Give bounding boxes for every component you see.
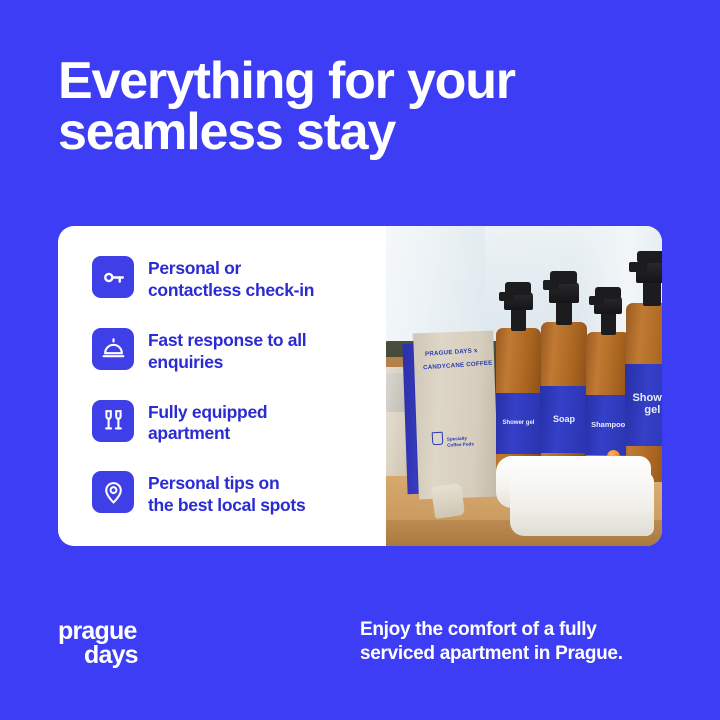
feature-line-1: Fully equipped [148,402,267,422]
service-bell-icon [92,328,134,370]
bottle-neck [556,301,572,325]
brand-logo[interactable]: prague days [58,620,138,668]
bottle-neck [601,312,616,335]
amenities-photo: PRAGUE DAYS x CANDYCANE COFFEE Specialty… [386,226,662,546]
feature-item-equipped-apartment: Fully equipped apartment [92,400,378,446]
bottle-neck [643,281,661,306]
coffee-bag-badge-line-1: Specialty [446,435,466,441]
feature-line-2: apartment [148,423,230,443]
feature-line-1: Personal tips on [148,473,279,493]
location-pin-icon [92,471,134,513]
feature-list: Personal or contactless check-in Fast re… [58,226,386,546]
feature-line-2: the best local spots [148,495,305,515]
feature-item-fast-response: Fast response to all enquiries [92,328,378,374]
logo-line-2: days [58,644,138,668]
photo-bottle-4: Shower gel [626,303,662,482]
bottle-label: Soap [540,386,589,453]
footer-tagline: Enjoy the comfort of a fully serviced ap… [360,618,680,667]
feature-label: Fast response to all enquiries [148,328,306,374]
feature-card: Personal or contactless check-in Fast re… [58,226,662,546]
bottle-label: Shower gel [625,364,662,446]
feature-item-local-tips: Personal tips on the best local spots [92,471,378,517]
feature-line-2: contactless check-in [148,280,314,300]
feature-line-1: Fast response to all [148,330,306,350]
key-icon [92,256,134,298]
wine-glasses-icon [92,400,134,442]
feature-line-2: enquiries [148,352,223,372]
feature-label: Personal tips on the best local spots [148,471,305,517]
bottle-nozzle [543,280,559,290]
bottle-nozzle [499,292,514,301]
bottle-nozzle [589,296,604,305]
bottle-neck [511,308,526,331]
bottle-nozzle [629,262,647,273]
feature-item-check-in: Personal or contactless check-in [92,256,378,302]
bottle-label: Shower gel [496,393,542,454]
coffee-cup-icon [431,432,443,446]
coffee-bag-badge: Specialty Coffee Pods [446,435,473,448]
coffee-bag-badge-line-2: Coffee Pods [447,441,474,447]
tagline-line-1: Enjoy the comfort of a fully [360,618,680,642]
feature-line-1: Personal or [148,258,241,278]
photo-coffee-pod [431,483,466,519]
page-title: Everything for your seamless stay [58,56,678,158]
photo-towel-front [510,472,654,536]
headline-line-2: seamless stay [58,107,678,158]
tagline-line-2: serviced apartment in Prague. [360,642,680,666]
headline-line-1: Everything for your [58,56,678,107]
feature-label: Fully equipped apartment [148,400,267,446]
feature-label: Personal or contactless check-in [148,256,314,302]
